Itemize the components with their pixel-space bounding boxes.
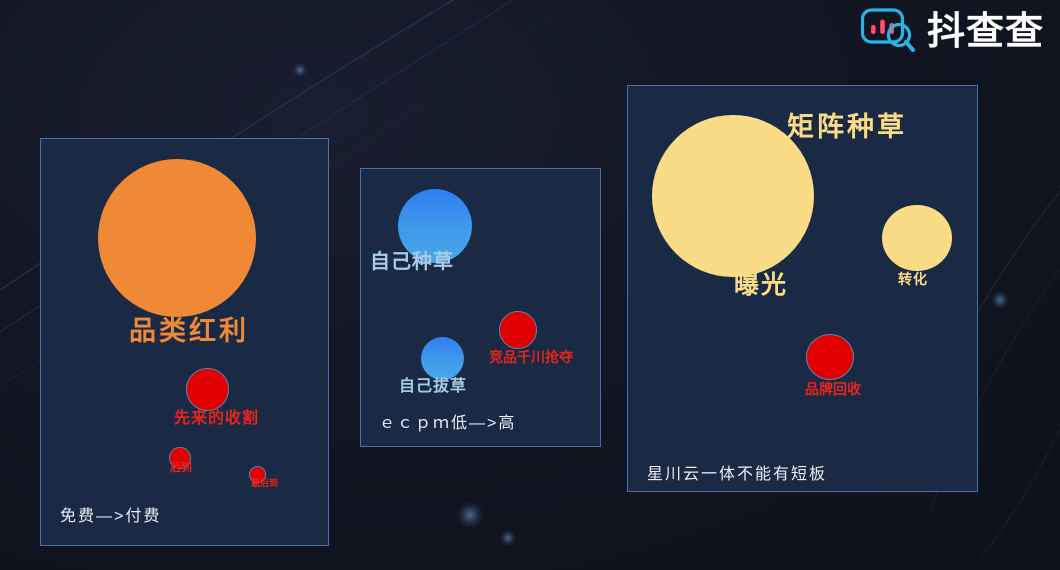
- glow-dot-decoration: [293, 63, 307, 77]
- bubble-label-early-harvest: 先来的收割: [174, 411, 259, 427]
- bubble-competitor-qianchuan[interactable]: [499, 311, 537, 349]
- brand-name: 抖查查: [927, 12, 1044, 50]
- glow-dot-decoration: [991, 291, 1009, 309]
- bubble-label-brand-recovery: 品牌回收: [805, 382, 861, 396]
- bubble-label-self-seeding: 自己种草: [370, 252, 454, 272]
- bubble-label-self-weeding: 自己拔草: [399, 379, 467, 395]
- brand-logo: 抖查查: [861, 8, 1044, 54]
- bubble-self-weeding[interactable]: [421, 337, 464, 380]
- bubble-label-category-dividend: 品类红利: [129, 318, 249, 345]
- bubble-label-competitor-qianchuan: 竞品千川抢夺: [489, 350, 573, 364]
- panel-title-matrix-seeding: 矩阵种草: [787, 114, 907, 141]
- panel-caption-xingchuanyun: 星川云一体不能有短板: [647, 460, 827, 484]
- bubble-category-dividend[interactable]: [98, 159, 256, 317]
- bubble-brand-recovery[interactable]: [806, 334, 854, 380]
- bubble-conversion[interactable]: [882, 205, 952, 271]
- bubble-label-late-arrival: 后到: [170, 463, 192, 474]
- bubble-exposure[interactable]: [652, 115, 814, 277]
- panel-self-seeding: [360, 168, 601, 447]
- bar-chart-search-icon: [861, 8, 917, 54]
- panel-caption-ecpm: ｅｃｐｍ低—>高: [379, 409, 516, 433]
- bubble-label-exposure: 曝光: [734, 273, 788, 298]
- slide-canvas: 抖查查 品类红利 先来的收割 后到 最后到 免费—>付费 自己种草 自己拔草 竞…: [0, 0, 1060, 570]
- panel-caption-free-to-paid: 免费—>付费: [60, 502, 161, 526]
- bubble-early-harvest[interactable]: [186, 368, 229, 411]
- bubble-label-last-arrival: 最后到: [251, 479, 278, 488]
- bubble-label-conversion: 转化: [898, 272, 928, 286]
- glow-dot-decoration: [500, 530, 516, 546]
- glow-dot-decoration: [457, 502, 483, 528]
